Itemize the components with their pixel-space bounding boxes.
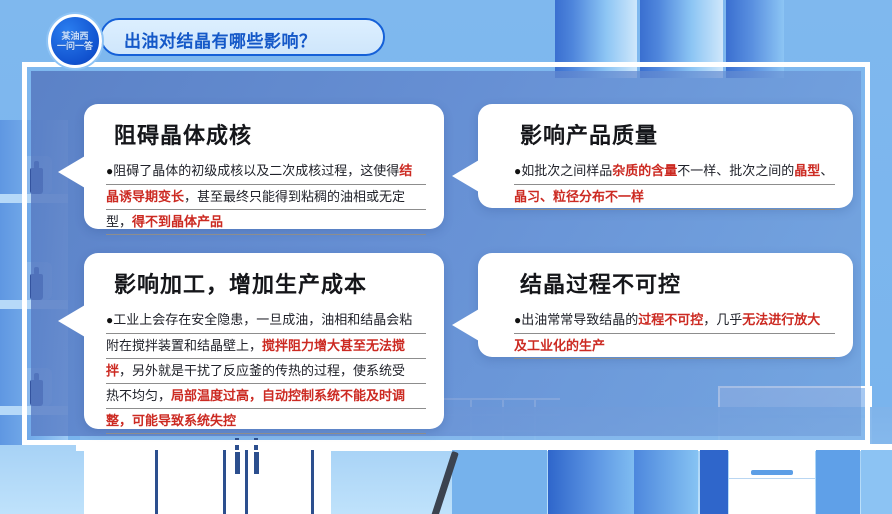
body-text: ，另外就是干扰了反应釜的传热的过程，使系统受: [119, 363, 405, 378]
lab-cabinet-3: [634, 450, 698, 514]
card-title: 影响产品质量: [520, 118, 835, 150]
body-text: 不一样、批次之间的: [677, 163, 794, 178]
cabinet-divider-1: [223, 450, 226, 514]
highlight-text: 无法进行放大: [742, 312, 820, 327]
highlight-text: 晶习、粒径分布不一样: [514, 189, 644, 204]
page-title: 出油对结晶有哪些影响？: [124, 27, 374, 52]
card-title: 阻碍晶体成核: [114, 118, 426, 150]
card-body: ●阻碍了晶体的初级成核以及二次成核过程，这使得结晶诱导期变长，甚至最终只能得到粘…: [106, 159, 426, 235]
card-title: 影响加工，增加生产成本: [114, 267, 426, 299]
info-card: 影响产品质量 ●如批次之间样品杂质的含量不一样、批次之间的晶型、晶习、粒径分布不…: [478, 104, 853, 208]
infographic-canvas: 出油对结晶有哪些影响？ 某油西 一问一答 阻碍晶体成核 ●阻碍了晶体的初级成核以…: [0, 0, 892, 514]
lab-cabinet-1: [452, 450, 547, 514]
highlight-text: 拌: [106, 363, 119, 378]
body-text: 热不均匀，: [106, 388, 171, 403]
card-title: 结晶过程不可控: [520, 267, 835, 299]
highlight-text: 过程不可控: [638, 312, 703, 327]
card-tail: [452, 309, 479, 341]
card-text-line: 拌，另外就是干扰了反应釜的传热的过程，使系统受: [106, 359, 426, 384]
card-text-line: 及工业化的生产: [514, 334, 835, 359]
highlight-text: 局部温度过高，自动控制系统不能及时调: [171, 388, 405, 403]
card-text-line: ●阻碍了晶体的初级成核以及二次成核过程，这使得结: [106, 159, 426, 185]
lab-cabinet-2: [548, 450, 634, 514]
card-tail: [58, 156, 85, 188]
lab-cabinet-left: [84, 450, 331, 514]
body-text: 阻碍了晶体的初级成核以及二次成核过程，这使得: [113, 163, 399, 178]
info-card: 阻碍晶体成核 ●阻碍了晶体的初级成核以及二次成核过程，这使得结晶诱导期变长，甚至…: [84, 104, 444, 229]
highlight-text: 得不到晶体产品: [132, 214, 223, 229]
highlight-text: 晶诱导期变长: [106, 189, 184, 204]
card-body: ●如批次之间样品杂质的含量不一样、批次之间的晶型、晶习、粒径分布不一样: [514, 159, 835, 210]
stand-pole-2: [254, 452, 259, 474]
card-text-line: ●出油常常导致结晶的过程不可控，几乎无法进行放大: [514, 308, 835, 334]
highlight-text: 晶型: [794, 163, 820, 178]
lab-cabinet-7: [861, 450, 892, 514]
card-text-line: 热不均匀，局部温度过高，自动控制系统不能及时调: [106, 384, 426, 409]
card-text-line: ●工业上会存在安全隐患，一旦成油，油相和结晶会粘: [106, 308, 426, 334]
info-card: 结晶过程不可控 ●出油常常导致结晶的过程不可控，几乎无法进行放大及工业化的生产: [478, 253, 853, 357]
stand-left-rod: [155, 450, 158, 514]
card-text-line: 附在搅拌装置和结晶壁上，搅拌阻力增大甚至无法搅: [106, 334, 426, 359]
card-tail: [58, 305, 85, 337]
body-text: 工业上会存在安全隐患，一旦成油，油相和结晶会粘: [113, 312, 412, 327]
card-body: ●出油常常导致结晶的过程不可控，几乎无法进行放大及工业化的生产: [514, 308, 835, 359]
highlight-text: 杂质的含量: [612, 163, 677, 178]
card-tail: [452, 160, 479, 192]
body-text: ，甚至最终只能得到粘稠的油相或无定: [184, 189, 405, 204]
brand-logo-line1: 某油西: [61, 31, 88, 41]
stand-pole-1: [235, 452, 240, 474]
highlight-text: 整，可能导致系统失控: [106, 413, 236, 428]
card-text-line: 晶习、粒径分布不一样: [514, 185, 835, 210]
card-body: ●工业上会存在安全隐患，一旦成油，油相和结晶会粘附在搅拌装置和结晶壁上，搅拌阻力…: [106, 308, 426, 434]
card-text-line: 整，可能导致系统失控: [106, 409, 426, 434]
brand-logo-line2: 一问一答: [57, 41, 93, 51]
body-text: ，几乎: [703, 312, 742, 327]
highlight-text: 结: [399, 163, 412, 178]
body-text: 如批次之间样品: [521, 163, 612, 178]
lab-cabinet-6: [816, 450, 860, 514]
stand-center-rod: [245, 450, 248, 514]
body-text: 附在搅拌装置和结晶壁上，: [106, 338, 262, 353]
brand-logo-icon[interactable]: 某油西 一问一答: [48, 14, 102, 68]
info-card: 影响加工，增加生产成本 ●工业上会存在安全隐患，一旦成油，油相和结晶会粘附在搅拌…: [84, 253, 444, 429]
highlight-text: 搅拌阻力增大甚至无法搅: [262, 338, 405, 353]
cabinet-seam-line: [729, 478, 815, 479]
brand-logo-text: 某油西 一问一答: [51, 17, 99, 65]
lab-cabinet-5: [729, 450, 815, 514]
cabinet-handle: [751, 470, 793, 475]
lab-cabinet-4: [700, 450, 728, 514]
cabinet-divider-2: [311, 450, 314, 514]
highlight-text: 及工业化的生产: [514, 338, 605, 353]
body-text: 型，: [106, 214, 132, 229]
card-text-line: 型，得不到晶体产品: [106, 210, 426, 235]
card-text-line: ●如批次之间样品杂质的含量不一样、批次之间的晶型、: [514, 159, 835, 185]
body-text: 、: [820, 163, 833, 178]
card-text-line: 晶诱导期变长，甚至最终只能得到粘稠的油相或无定: [106, 185, 426, 210]
body-text: 出油常常导致结晶的: [521, 312, 638, 327]
